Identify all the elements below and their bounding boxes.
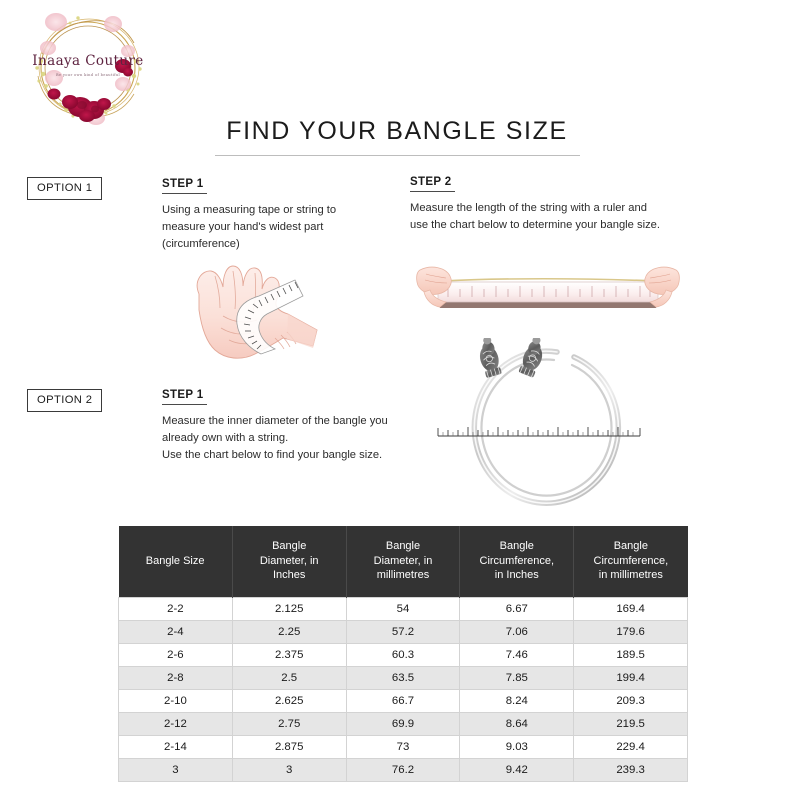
- table-row: 2-6 2.375 60.3 7.46 189.5: [119, 643, 688, 666]
- step-heading-underline: [162, 404, 207, 405]
- cell-circumf-in: 8.64: [460, 712, 574, 735]
- bangle-size-table: Bangle Size Bangle Diameter, in Inches B…: [118, 526, 688, 782]
- step-heading-underline: [410, 191, 455, 192]
- cell-diameter-mm: 63.5: [346, 666, 460, 689]
- column-header-circumference-millimetres: Bangle Circumference, in millimetres: [574, 526, 688, 597]
- step-heading: STEP 2: [410, 176, 452, 188]
- column-header-diameter-inches: Bangle Diameter, in Inches: [232, 526, 346, 597]
- cell-circumf-mm: 179.6: [574, 620, 688, 643]
- table-row: 2-14 2.875 73 9.03 229.4: [119, 735, 688, 758]
- cell-diameter-mm: 54: [346, 597, 460, 620]
- cell-circumf-mm: 209.3: [574, 689, 688, 712]
- table-row: 2-8 2.5 63.5 7.85 199.4: [119, 666, 688, 689]
- table-header-row: Bangle Size Bangle Diameter, in Inches B…: [119, 526, 688, 597]
- cell-circumf-in: 7.06: [460, 620, 574, 643]
- column-header-bangle-size: Bangle Size: [119, 526, 233, 597]
- step-description: Measure the length of the string with a …: [410, 200, 665, 233]
- option-1-badge: OPTION 1: [27, 177, 102, 200]
- cell-bangle-size: 2-8: [119, 666, 233, 689]
- cell-diameter-in: 3: [232, 758, 346, 781]
- option-2-badge: OPTION 2: [27, 389, 102, 412]
- cell-diameter-in: 2.5: [232, 666, 346, 689]
- table-row: 2-4 2.25 57.2 7.06 179.6: [119, 620, 688, 643]
- cell-circumf-in: 6.67: [460, 597, 574, 620]
- cell-diameter-mm: 69.9: [346, 712, 460, 735]
- cell-diameter-mm: 73: [346, 735, 460, 758]
- cell-diameter-in: 2.875: [232, 735, 346, 758]
- cell-diameter-in: 2.25: [232, 620, 346, 643]
- cell-bangle-size: 2-12: [119, 712, 233, 735]
- cell-circumf-mm: 229.4: [574, 735, 688, 758]
- cell-diameter-mm: 66.7: [346, 689, 460, 712]
- column-header-circumference-inches: Bangle Circumference, in Inches: [460, 526, 574, 597]
- cell-circumf-in: 9.03: [460, 735, 574, 758]
- cell-circumf-mm: 169.4: [574, 597, 688, 620]
- option-1-step-2: STEP 2 Measure the length of the string …: [410, 172, 665, 234]
- option-2-step-1: STEP 1 Measure the inner diameter of the…: [162, 385, 407, 463]
- cell-diameter-in: 2.125: [232, 597, 346, 620]
- hands-holding-ruler-icon: [412, 252, 684, 334]
- cell-circumf-in: 8.24: [460, 689, 574, 712]
- option-1-step-1: STEP 1 Using a measuring tape or string …: [162, 174, 357, 252]
- cell-bangle-size: 2-6: [119, 643, 233, 666]
- cell-diameter-mm: 57.2: [346, 620, 460, 643]
- table-body: 2-2 2.125 54 6.67 169.4 2-4 2.25 57.2 7.…: [119, 597, 688, 781]
- table-row: 2-2 2.125 54 6.67 169.4: [119, 597, 688, 620]
- cell-bangle-size: 2-4: [119, 620, 233, 643]
- cell-diameter-in: 2.75: [232, 712, 346, 735]
- logo-tagline: Be your own kind of beautiful: [56, 73, 121, 77]
- table-row: 3 3 76.2 9.42 239.3: [119, 758, 688, 781]
- logo-brand-name: Inaaya Couture: [32, 53, 143, 69]
- cell-circumf-mm: 219.5: [574, 712, 688, 735]
- cell-diameter-in: 2.625: [232, 689, 346, 712]
- cell-diameter-in: 2.375: [232, 643, 346, 666]
- cell-circumf-mm: 189.5: [574, 643, 688, 666]
- table-header: Bangle Size Bangle Diameter, in Inches B…: [119, 526, 688, 597]
- step-description: Measure the inner diameter of the bangle…: [162, 413, 407, 463]
- column-header-diameter-millimetres: Bangle Diameter, in millimetres: [346, 526, 460, 597]
- step-heading-underline: [162, 193, 207, 194]
- cell-circumf-in: 7.46: [460, 643, 574, 666]
- cell-diameter-mm: 76.2: [346, 758, 460, 781]
- step-heading: STEP 1: [162, 389, 204, 401]
- cell-diameter-mm: 60.3: [346, 643, 460, 666]
- silver-bangle-with-ruler-icon: [424, 338, 674, 508]
- cell-bangle-size: 2-2: [119, 597, 233, 620]
- hand-with-measuring-tape-icon: [163, 246, 378, 371]
- cell-bangle-size: 2-10: [119, 689, 233, 712]
- title-divider: [215, 155, 580, 156]
- table-row: 2-10 2.625 66.7 8.24 209.3: [119, 689, 688, 712]
- cell-bangle-size: 2-14: [119, 735, 233, 758]
- page-title: FIND YOUR BANGLE SIZE: [0, 118, 794, 146]
- step-heading: STEP 1: [162, 178, 204, 190]
- brand-logo: Inaaya Couture Be your own kind of beaut…: [18, 6, 158, 131]
- cell-circumf-in: 9.42: [460, 758, 574, 781]
- step-description: Using a measuring tape or string to meas…: [162, 202, 357, 252]
- cell-circumf-mm: 239.3: [574, 758, 688, 781]
- cell-bangle-size: 3: [119, 758, 233, 781]
- cell-circumf-mm: 199.4: [574, 666, 688, 689]
- page-header: FIND YOUR BANGLE SIZE: [0, 118, 794, 156]
- cell-circumf-in: 7.85: [460, 666, 574, 689]
- table-row: 2-12 2.75 69.9 8.64 219.5: [119, 712, 688, 735]
